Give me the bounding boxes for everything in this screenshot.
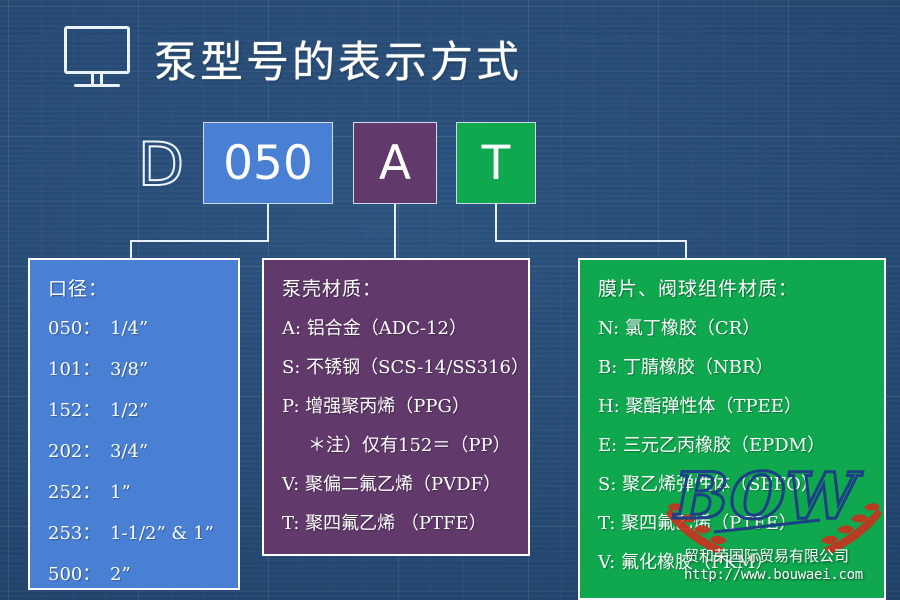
monitor-icon (62, 26, 132, 92)
legend-value: 1-1/2” & 1” (110, 523, 214, 544)
legend-value: 聚乙烯弹性体（SEFO） (622, 474, 819, 495)
legend-row: B: 丁腈橡胶（NBR） (598, 353, 870, 379)
legend-row: 101：3/8” (48, 355, 224, 381)
connector-diameter-vertical-1 (267, 204, 269, 241)
legend-panel-diameter: 口径： 050：1/4” 101：3/8” 152：1/2” 202：3/4” … (28, 258, 240, 590)
legend-row: 500：2” (48, 560, 224, 586)
legend-value: 2” (110, 564, 131, 585)
legend-row: 050：1/4” (48, 314, 224, 340)
connector-body-vertical (394, 204, 396, 259)
monitor-screen-icon-part (64, 26, 130, 74)
legend-value: 聚四氟乙烯 （PTFE） (305, 513, 486, 534)
connector-membrane-horizontal (495, 240, 686, 242)
legend-key: 202： (48, 437, 110, 463)
legend-row: S: 聚乙烯弹性体（SEFO） (598, 470, 870, 496)
connector-diameter-vertical-2 (130, 240, 132, 259)
legend-value: 1/2” (110, 400, 148, 421)
legend-row: 253：1-1/2” & 1” (48, 519, 224, 545)
code-box-body: A (353, 122, 437, 204)
legend-row: T: 聚四氟乙烯 （PTFE） (282, 509, 514, 535)
legend-key: S: (598, 474, 616, 495)
legend-row: 202：3/4” (48, 437, 224, 463)
legend-title-membrane-material: 膜片、阀球组件材质： (598, 274, 870, 301)
monitor-neck-icon-part (91, 74, 103, 84)
legend-row: 152：1/2” (48, 396, 224, 422)
legend-row: P: 增强聚丙烯（PPG） (282, 392, 514, 418)
legend-key: V: (282, 474, 299, 495)
code-box-diameter: 050 (203, 122, 333, 204)
legend-key: T: (282, 513, 299, 534)
legend-value: 1” (110, 482, 131, 503)
legend-value: 氯丁橡胶（CR） (625, 318, 760, 339)
legend-value: ＊注）仅有152＝（PP） (308, 435, 511, 456)
legend-title-body-material: 泵壳材质： (282, 274, 514, 301)
page-header: 泵型号的表示方式 (62, 26, 522, 92)
connector-membrane-vertical-1 (495, 204, 497, 241)
legend-panel-body-material: 泵壳材质： A: 铝合金（ADC-12） S: 不锈钢（SCS-14/SS316… (262, 258, 530, 556)
connector-membrane-vertical-2 (685, 240, 687, 259)
legend-value: 1/4” (110, 318, 148, 339)
legend-panel-membrane-material: 膜片、阀球组件材质： N: 氯丁橡胶（CR） B: 丁腈橡胶（NBR） H: 聚… (578, 258, 886, 600)
code-box-membrane: T (456, 122, 536, 204)
legend-value: 3/4” (110, 441, 148, 462)
legend-key: 252： (48, 478, 110, 504)
legend-key: 500： (48, 560, 110, 586)
legend-row: V: 聚偏二氟乙烯（PVDF） (282, 470, 514, 496)
legend-row: T: 聚四氟乙烯（PTFE） (598, 509, 870, 535)
legend-value: 三元乙丙橡胶（EPDM） (623, 435, 825, 456)
legend-key: V: (598, 552, 615, 573)
legend-key: 253： (48, 519, 110, 545)
legend-row-note: ＊注）仅有152＝（PP） (282, 431, 514, 457)
legend-row: V: 氟化橡胶（FKM） (598, 548, 870, 574)
legend-value: 丁腈橡胶（NBR） (623, 357, 774, 378)
legend-value: 聚偏二氟乙烯（PVDF） (305, 474, 501, 495)
legend-value: 氟化橡胶（FKM） (621, 552, 773, 573)
legend-value: 聚四氟乙烯（PTFE） (621, 513, 797, 534)
legend-row: H: 聚酯弹性体（TPEE） (598, 392, 870, 418)
legend-key: N: (598, 318, 619, 339)
connector-diameter-horizontal (130, 240, 269, 242)
legend-value: 铝合金（ADC-12） (307, 318, 467, 339)
legend-title-diameter: 口径： (48, 274, 224, 301)
legend-key: 152： (48, 396, 110, 422)
legend-row: N: 氯丁橡胶（CR） (598, 314, 870, 340)
monitor-base-icon-part (74, 84, 120, 87)
legend-value: 3/8” (110, 359, 148, 380)
legend-key: 050： (48, 314, 110, 340)
legend-row: E: 三元乙丙橡胶（EPDM） (598, 431, 870, 457)
legend-value: 不锈钢（SCS-14/SS316） (306, 357, 529, 378)
legend-key: H: (598, 396, 620, 417)
legend-value: 增强聚丙烯（PPG） (305, 396, 470, 417)
legend-key: S: (282, 357, 300, 378)
legend-key: 101： (48, 355, 110, 381)
legend-row: 252：1” (48, 478, 224, 504)
legend-key: B: (598, 357, 617, 378)
legend-value: 聚酯弹性体（TPEE） (626, 396, 802, 417)
legend-key: T: (598, 513, 615, 534)
legend-key: P: (282, 396, 300, 417)
legend-row: S: 不锈钢（SCS-14/SS316） (282, 353, 514, 379)
page-title: 泵型号的表示方式 (154, 28, 522, 90)
legend-row: A: 铝合金（ADC-12） (282, 314, 514, 340)
code-box-prefix: D (130, 125, 192, 205)
legend-key: A: (282, 318, 301, 339)
legend-key: E: (598, 435, 617, 456)
